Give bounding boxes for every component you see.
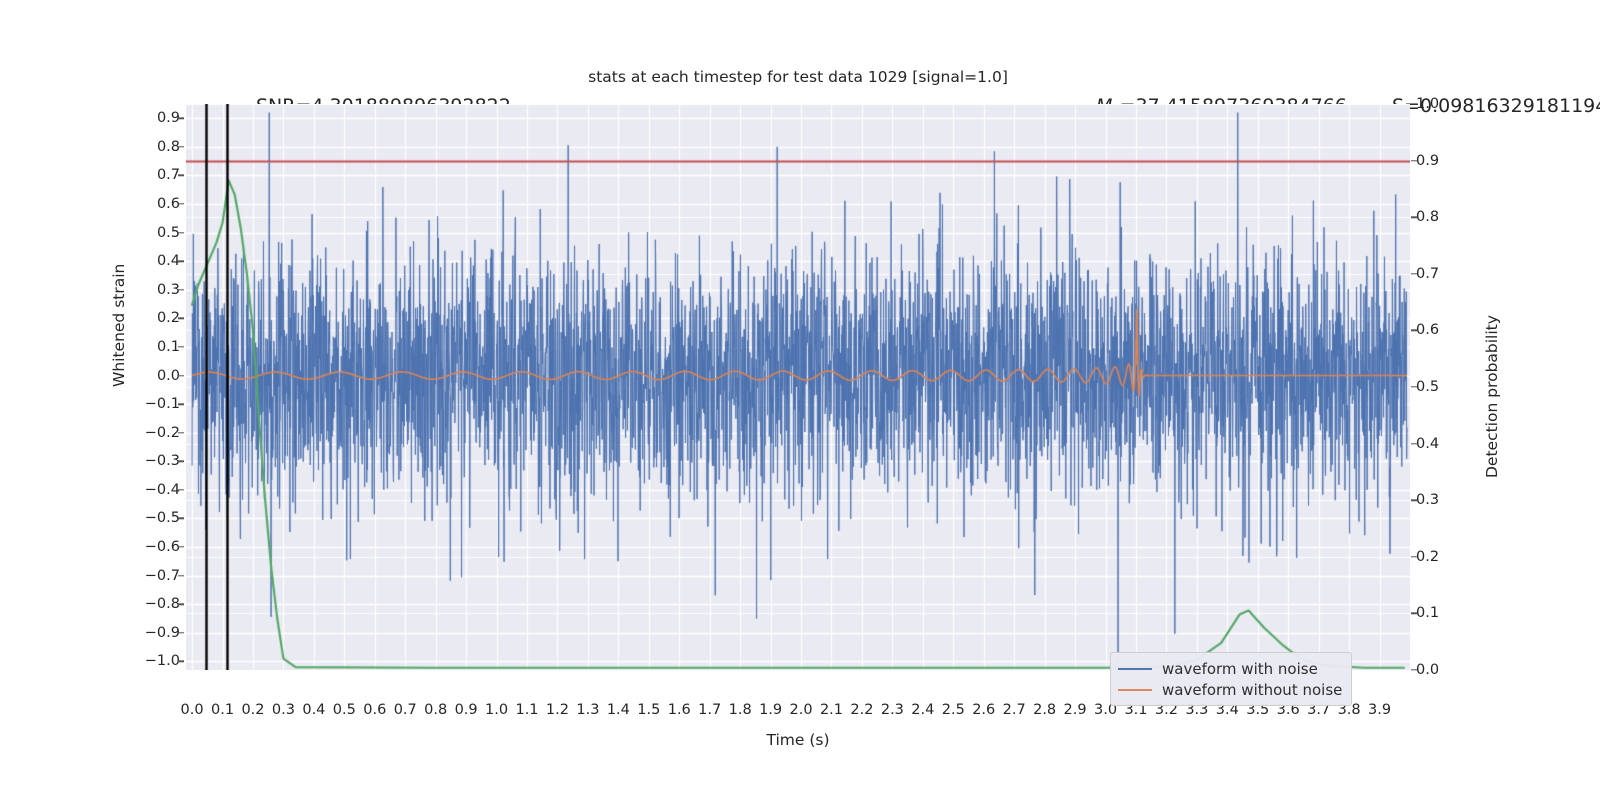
y-tick-mark-right	[1411, 443, 1417, 444]
figure-root: stats at each timestep for test data 102…	[0, 0, 1600, 800]
x-axis-label: Time (s)	[186, 731, 1410, 749]
y-tick-label-left: 0.5	[157, 225, 180, 241]
x-tick-label: 2.9	[1064, 702, 1087, 718]
y-tick-label-left: −0.9	[145, 625, 180, 641]
y-tick-label-left: −0.4	[145, 482, 180, 498]
y-tick-label-right: 0.2	[1416, 549, 1439, 565]
x-tick-label: 0.8	[424, 702, 447, 718]
y-tick-mark-right	[1411, 103, 1417, 104]
y-tick-label-left: 0.3	[157, 282, 180, 298]
y-tick-label-right: 0.3	[1416, 492, 1439, 508]
x-tick-label: 1.7	[698, 702, 721, 718]
y-tick-mark-left	[178, 318, 184, 319]
y-tick-mark-left	[178, 661, 184, 662]
legend-swatch	[1118, 689, 1152, 691]
y-tick-mark-left	[178, 604, 184, 605]
chart-title: stats at each timestep for test data 102…	[186, 68, 1410, 86]
x-tick-label: 1.4	[607, 702, 630, 718]
y-tick-label-right: 0.8	[1416, 209, 1439, 225]
y-tick-mark-left	[178, 518, 184, 519]
y-tick-mark-right	[1411, 386, 1417, 387]
x-tick-label: 0.0	[181, 702, 204, 718]
y-tick-label-left: 0.0	[157, 368, 180, 384]
y-tick-label-right: 0.5	[1416, 379, 1439, 395]
x-tick-label: 2.3	[881, 702, 904, 718]
y-tick-mark-left	[178, 403, 184, 404]
x-tick-label: 1.8	[729, 702, 752, 718]
y-tick-mark-left	[178, 261, 184, 262]
y-tick-mark-left	[178, 118, 184, 119]
y-tick-mark-right	[1411, 160, 1417, 161]
x-tick-label: 2.8	[1033, 702, 1056, 718]
y-tick-label-left: 0.1	[157, 339, 180, 355]
legend: waveform with noisewaveform without nois…	[1110, 652, 1352, 706]
y-tick-label-left: 0.6	[157, 196, 180, 212]
legend-label: waveform without noise	[1162, 681, 1342, 699]
x-tick-label: 0.6	[363, 702, 386, 718]
x-tick-label: 0.9	[455, 702, 478, 718]
y-tick-label-left: 0.2	[157, 310, 180, 326]
x-tick-label: 0.3	[272, 702, 295, 718]
x-tick-label: 0.2	[241, 702, 264, 718]
x-tick-label: 0.1	[211, 702, 234, 718]
legend-item: waveform with noise	[1118, 658, 1342, 679]
y-tick-mark-left	[178, 203, 184, 204]
y-tick-label-left: 0.9	[157, 110, 180, 126]
x-tick-label: 1.9	[759, 702, 782, 718]
y-tick-mark-left	[178, 346, 184, 347]
legend-swatch	[1118, 668, 1152, 670]
y-tick-mark-left	[178, 461, 184, 462]
y-tick-mark-left	[178, 575, 184, 576]
x-tick-label: 1.2	[546, 702, 569, 718]
y-tick-mark-right	[1411, 330, 1417, 331]
x-tick-label: 1.6	[668, 702, 691, 718]
y-tick-label-right: 1.0	[1416, 96, 1439, 112]
y-tick-label-right: 0.9	[1416, 153, 1439, 169]
y-tick-label-left: −0.6	[145, 539, 180, 555]
y-tick-mark-left	[178, 546, 184, 547]
x-tick-label: 0.4	[302, 702, 325, 718]
plot-area	[186, 104, 1410, 670]
y-tick-mark-left	[178, 289, 184, 290]
y-tick-mark-right	[1411, 556, 1417, 557]
legend-label: waveform with noise	[1162, 660, 1318, 678]
plot-canvas	[186, 104, 1410, 670]
x-tick-label: 2.7	[1003, 702, 1026, 718]
y-tick-label-left: −0.5	[145, 510, 180, 526]
x-tick-label: 3.9	[1368, 702, 1391, 718]
y-tick-label-left: 0.7	[157, 167, 180, 183]
y-tick-mark-right	[1411, 613, 1417, 614]
y-tick-mark-left	[178, 489, 184, 490]
y-tick-mark-right	[1411, 273, 1417, 274]
x-tick-label: 2.4	[911, 702, 934, 718]
y-tick-label-left: 0.4	[157, 253, 180, 269]
y-tick-label-left: −0.3	[145, 453, 180, 469]
y-tick-mark-left	[178, 432, 184, 433]
y-tick-label-left: −0.1	[145, 396, 180, 412]
y-tick-label-right: 0.0	[1416, 662, 1439, 678]
y-tick-mark-right	[1411, 669, 1417, 670]
y-tick-label-right: 0.1	[1416, 605, 1439, 621]
legend-item: waveform without noise	[1118, 679, 1342, 700]
y-tick-label-left: 0.8	[157, 139, 180, 155]
y-tick-mark-right	[1411, 499, 1417, 500]
x-tick-label: 1.1	[515, 702, 538, 718]
y-tick-mark-right	[1411, 216, 1417, 217]
x-tick-label: 0.7	[394, 702, 417, 718]
y-tick-mark-left	[178, 175, 184, 176]
x-tick-label: 0.5	[333, 702, 356, 718]
x-tick-label: 1.5	[637, 702, 660, 718]
y-tick-label-right: 0.6	[1416, 322, 1439, 338]
x-tick-label: 2.5	[942, 702, 965, 718]
y-tick-label-left: −0.8	[145, 596, 180, 612]
x-tick-label: 2.1	[820, 702, 843, 718]
x-tick-label: 1.0	[485, 702, 508, 718]
y-tick-mark-left	[178, 232, 184, 233]
y-axis-label-left: Whitened strain	[110, 264, 128, 387]
y-tick-mark-left	[178, 375, 184, 376]
y-axis-label-right: Detection probability	[1483, 315, 1501, 478]
x-tick-label: 2.0	[790, 702, 813, 718]
x-tick-label: 1.3	[576, 702, 599, 718]
x-tick-label: 2.2	[850, 702, 873, 718]
y-tick-label-right: 0.4	[1416, 436, 1439, 452]
x-tick-label: 2.6	[972, 702, 995, 718]
y-tick-mark-left	[178, 146, 184, 147]
y-tick-mark-left	[178, 632, 184, 633]
y-tick-label-left: −0.2	[145, 425, 180, 441]
y-tick-label-left: −0.7	[145, 568, 180, 584]
y-tick-label-left: −1.0	[145, 653, 180, 669]
y-tick-label-right: 0.7	[1416, 266, 1439, 282]
